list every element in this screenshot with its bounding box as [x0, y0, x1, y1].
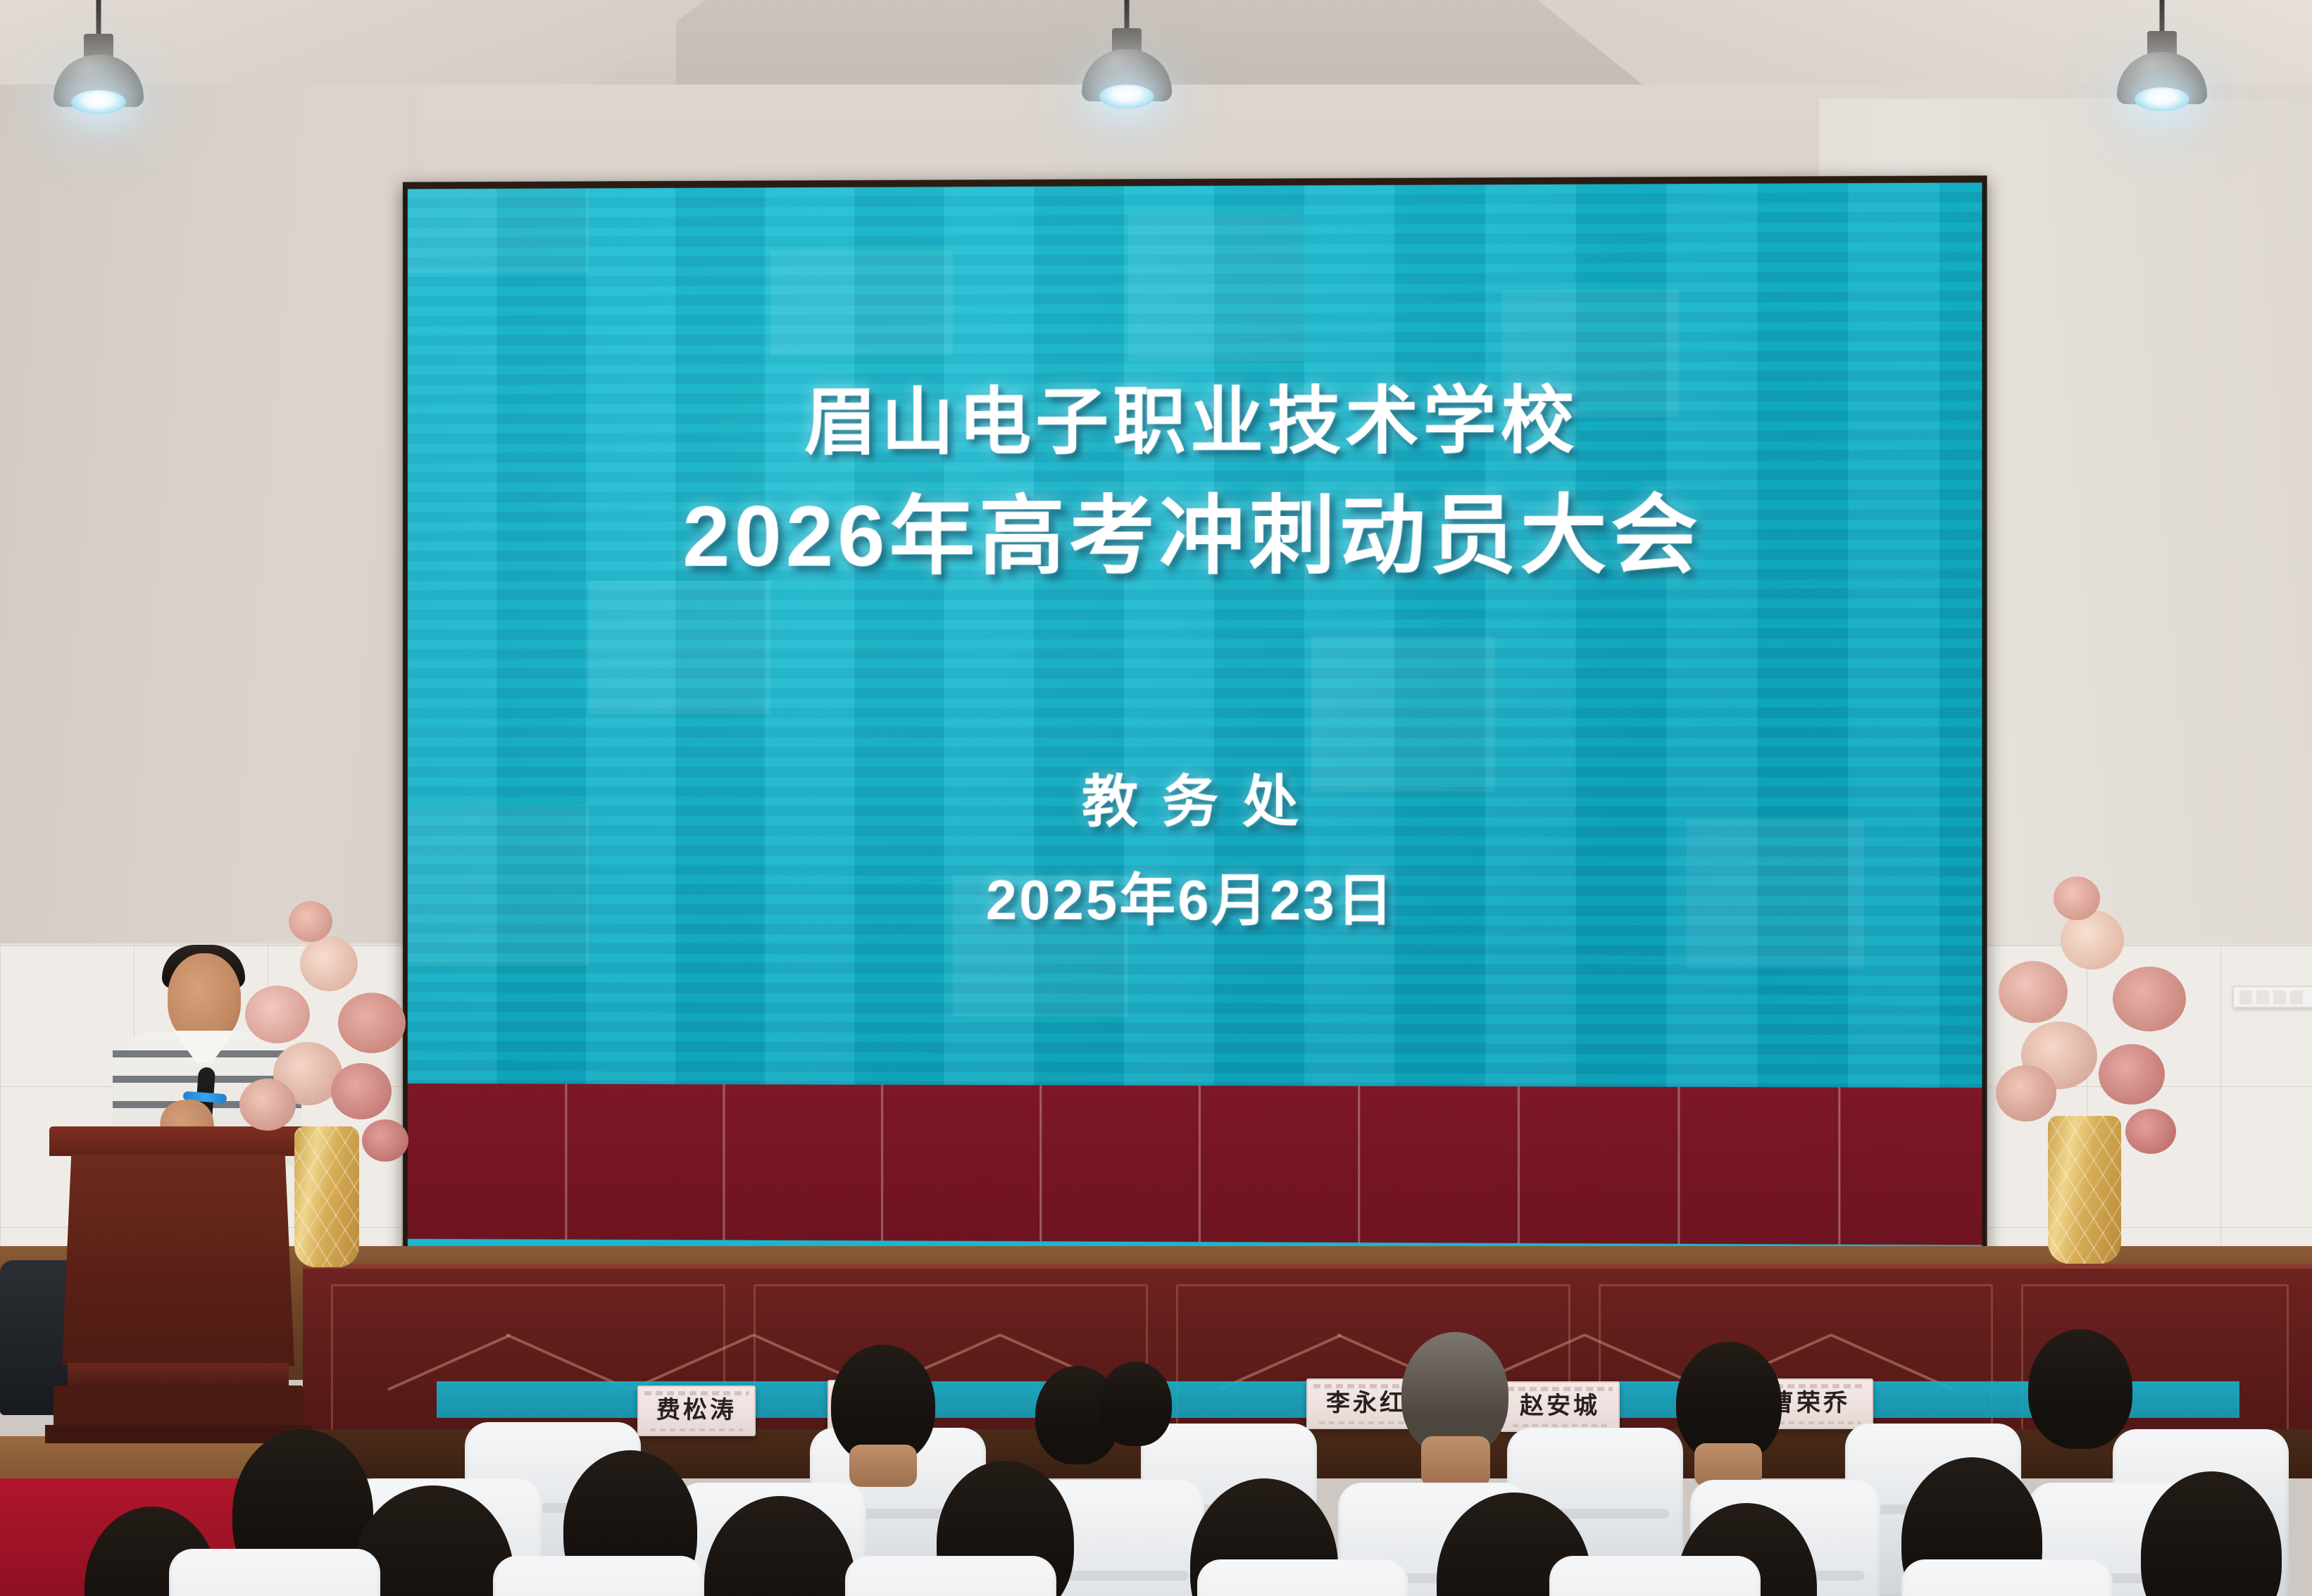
auditorium-scene: 眉山电子职业技术学校 2026年高考冲刺动员大会 教务处 2025年6月23日: [0, 0, 2312, 1596]
flower-arrangement-left: [232, 894, 415, 1260]
flower-vase-right: [2048, 1116, 2121, 1264]
seat: [1549, 1556, 1761, 1596]
seat: [169, 1549, 380, 1596]
light-cap: [1112, 28, 1142, 52]
light-bulb-icon: [2135, 87, 2189, 111]
led-screen: 眉山电子职业技术学校 2026年高考冲刺动员大会 教务处 2025年6月23日: [403, 175, 1987, 1276]
flower-petal: [1996, 1065, 2056, 1121]
flower-petal: [2054, 876, 2100, 920]
flower-arrangement-right: [1993, 876, 2204, 1271]
speaker-head: [168, 953, 241, 1043]
seat: [493, 1556, 704, 1596]
flower-petal: [2099, 1044, 2165, 1105]
audience-head: [2028, 1329, 2132, 1449]
light-cap: [84, 34, 113, 58]
light-cord-icon: [2160, 0, 2165, 32]
light-cord-icon: [96, 0, 101, 35]
led-screen-bezel: [403, 175, 1987, 1276]
audience-area: [0, 1345, 2312, 1596]
seat: [1901, 1559, 2113, 1596]
audience-head: [1099, 1362, 1172, 1446]
flower-petal: [338, 993, 406, 1053]
flower-petal: [239, 1079, 296, 1131]
seat: [845, 1556, 1056, 1596]
flower-petal: [2125, 1109, 2176, 1154]
audience-neck: [1421, 1436, 1490, 1487]
flower-petal: [245, 986, 310, 1043]
flower-petal: [2113, 967, 2186, 1031]
flower-vase-left: [294, 1126, 359, 1267]
light-bulb-icon: [71, 90, 126, 114]
flower-petal: [300, 936, 358, 991]
light-cap: [2147, 31, 2177, 55]
light-bulb-icon: [1099, 84, 1154, 108]
light-switch-panel[interactable]: [2232, 986, 2312, 1008]
light-cord-icon: [1125, 0, 1130, 30]
flower-petal: [362, 1119, 408, 1162]
audience-neck: [849, 1445, 917, 1487]
flower-petal: [331, 1063, 392, 1119]
flower-petal: [289, 901, 332, 942]
seat: [1197, 1559, 1408, 1596]
flower-petal: [1999, 961, 2068, 1023]
